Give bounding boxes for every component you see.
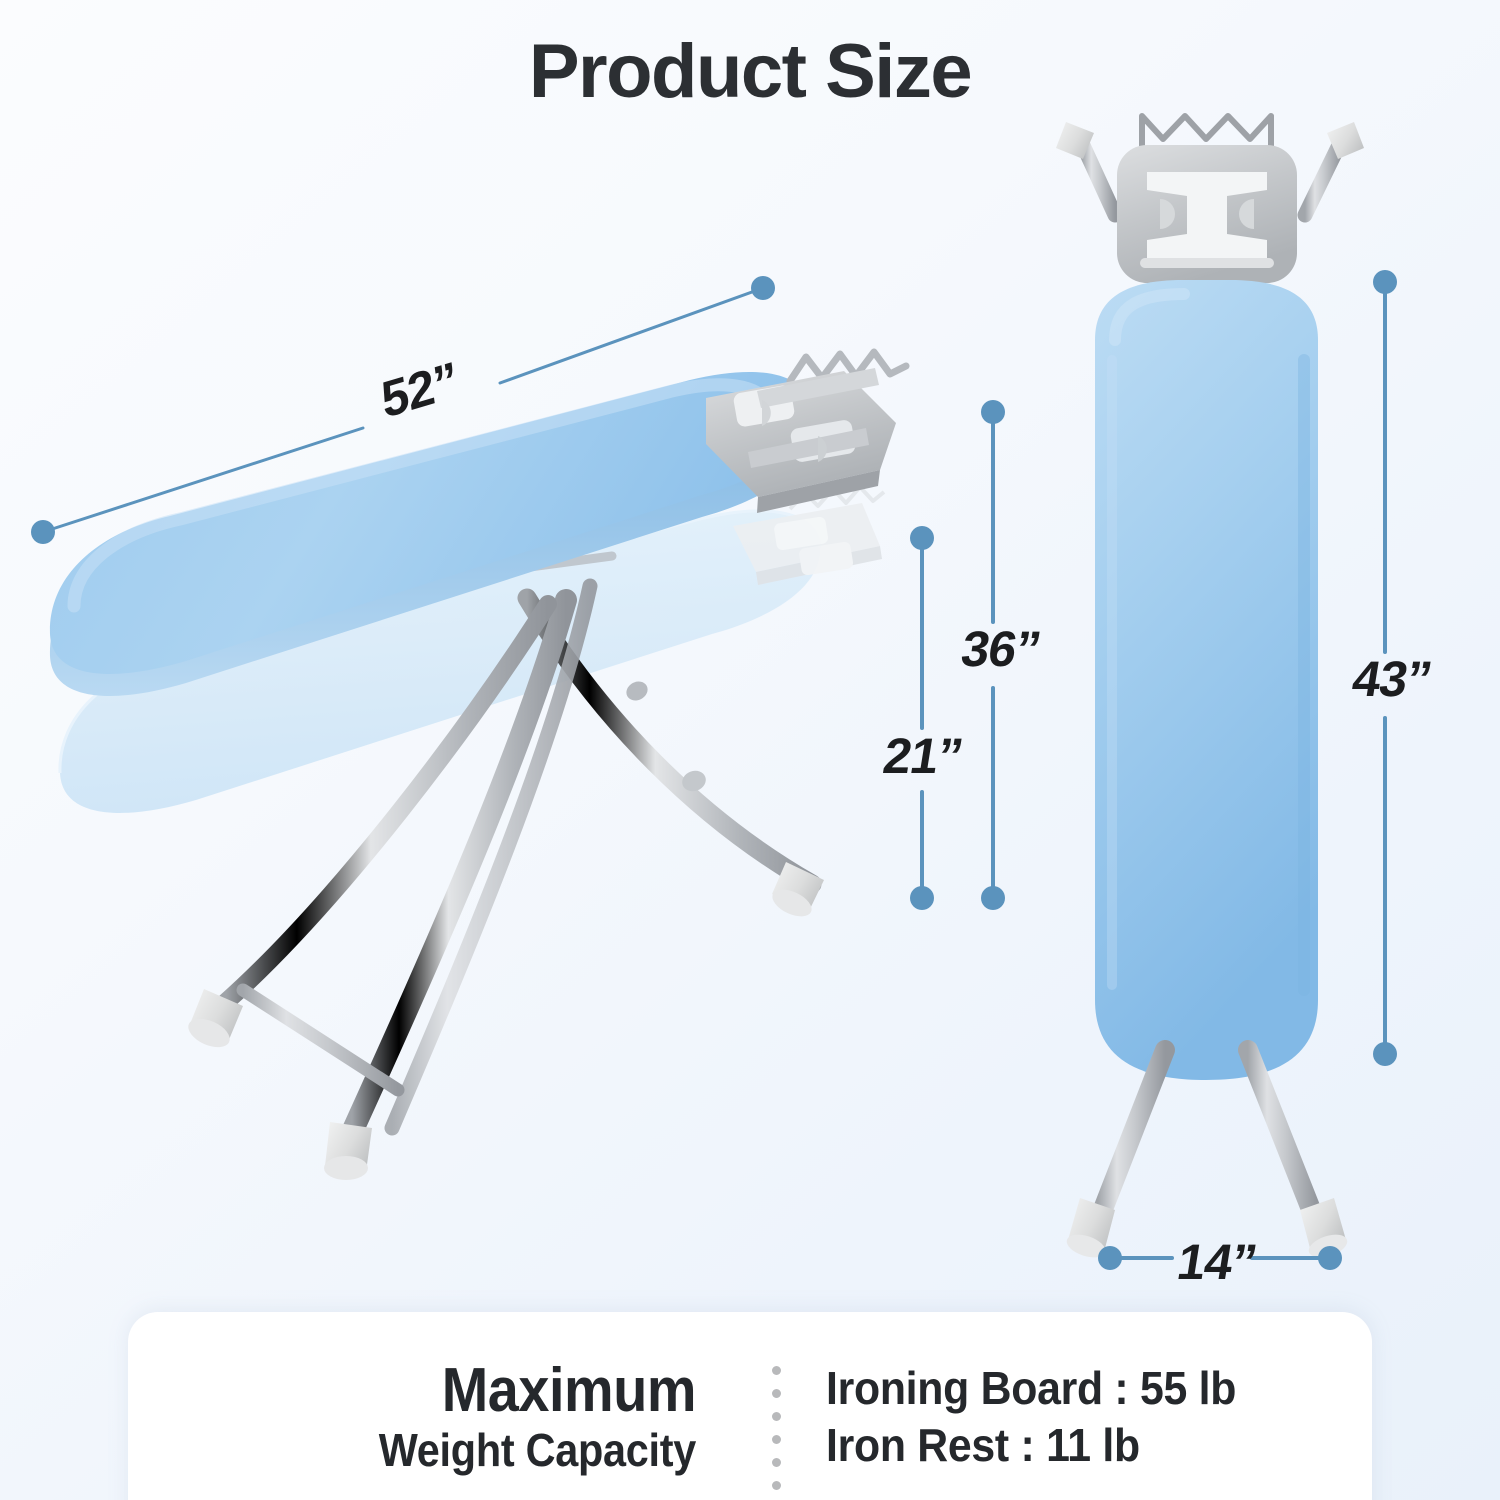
board-front-surface (1095, 280, 1318, 1080)
dimension-label-top-length: 43” (1348, 650, 1435, 708)
capacity-headline: Maximum (185, 1360, 696, 1422)
capacity-item-ironing-board: Ironing Board : 55 lb (826, 1360, 1334, 1417)
divider-dot (772, 1389, 781, 1398)
dotted-divider (748, 1360, 804, 1490)
ghost-iron-rest (733, 487, 884, 585)
dimension-label-min-height: 21” (879, 727, 966, 785)
ironing-board-front-view (1056, 116, 1364, 1262)
dimension-line-21 (910, 526, 934, 910)
max-weight-capacity-card: Maximum Weight Capacity Ironing Board : … (128, 1312, 1372, 1500)
capacity-item-iron-rest: Iron Rest : 11 lb (826, 1417, 1334, 1474)
dimension-label-width: 14” (1173, 1233, 1260, 1291)
ironing-board-perspective (50, 352, 906, 1180)
product-illustration (0, 0, 1500, 1500)
capacity-heading-group: Maximum Weight Capacity (128, 1360, 748, 1478)
divider-dot (772, 1435, 781, 1444)
divider-dot (772, 1481, 781, 1490)
board-foot-front (324, 1122, 372, 1180)
board-front-legs (1064, 1050, 1350, 1262)
dimension-label-max-height: 36” (957, 620, 1044, 678)
product-size-infographic: Product Size (0, 0, 1500, 1500)
iron-rest-top-view (1117, 116, 1297, 283)
divider-dot (772, 1412, 781, 1421)
capacity-values-group: Ironing Board : 55 lb Iron Rest : 11 lb (804, 1360, 1372, 1474)
divider-dot (772, 1366, 781, 1375)
capacity-subheadline: Weight Capacity (185, 1422, 696, 1478)
divider-dot (772, 1458, 781, 1467)
